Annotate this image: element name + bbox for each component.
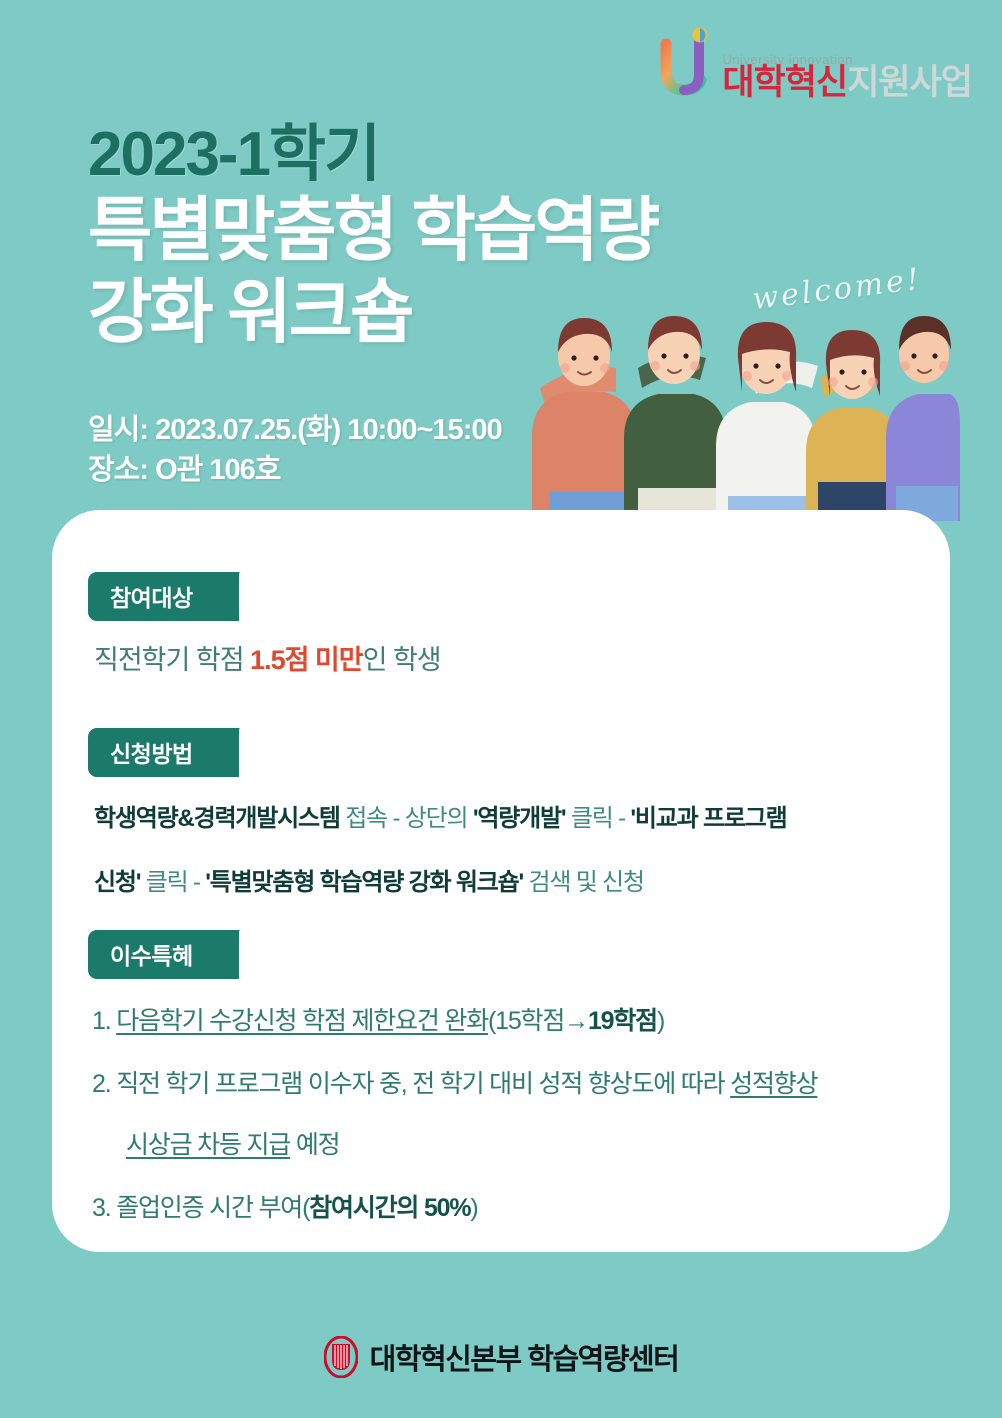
logo-title-gray: 지원사업: [847, 63, 972, 102]
schedule-info: 일시: 2023.07.25.(화) 10:00~15:00 장소: O관 10…: [88, 410, 502, 490]
section-apply: 신청방법 학생역량&경력개발시스템 접속 - 상단의 '역량개발' 클릭 - '…: [88, 728, 787, 895]
benefit-2-text: 직전 학기 프로그램 이수자 중, 전 학기 대비 성적 향상도에 따라: [116, 1070, 730, 1098]
benefit-1-tail-a: (15학점→: [488, 1007, 588, 1035]
apply-menu-2-part2: 신청': [94, 869, 140, 896]
benefit-3-text-c: ): [470, 1194, 477, 1222]
benefit-3-number: 3.: [92, 1194, 110, 1222]
target-text-pre: 직전학기 학점: [94, 645, 250, 675]
university-innovation-u-icon: [658, 26, 714, 100]
university-seal-icon: [324, 1336, 358, 1378]
section-badge-apply: 신청방법: [88, 728, 239, 777]
section-benefit: 이수특혜 1. 다음학기 수강신청 학점 제한요건 완화(15학점→19학점) …: [88, 930, 817, 1221]
apply-menu-1: '역량개발': [473, 805, 566, 832]
schedule-date: 일시: 2023.07.25.(화) 10:00~15:00: [88, 410, 502, 450]
benefit-3-text-a: 졸업인증 시간 부여(: [116, 1194, 309, 1222]
section-badge-benefit: 이수특혜: [88, 930, 239, 979]
info-card: 참여대상 직전학기 학점 1.5점 미만인 학생 신청방법 학생역량&경력개발시…: [52, 510, 950, 1252]
benefit-2-underlined-b: 시상금 차등 지급: [126, 1131, 290, 1159]
apply-line-1: 학생역량&경력개발시스템 접속 - 상단의 '역량개발' 클릭 - '비교과 프…: [88, 807, 787, 831]
footer: 대학혁신본부 학습역량센터: [0, 1336, 1002, 1378]
benefit-2-underlined-a: 성적향상: [730, 1070, 817, 1098]
footer-organization: 대학혁신본부 학습역량센터: [370, 1336, 679, 1378]
logo-title: 대학혁신지원사업: [722, 65, 972, 100]
students-group-illustration: [520, 296, 960, 521]
target-text-post: 인 학생: [363, 645, 441, 675]
logo-title-red: 대학혁신: [722, 63, 847, 102]
headline-line-1: 특별맞춤형 학습역량: [88, 191, 778, 269]
headline-semester: 2023-1학기: [88, 122, 778, 187]
benefit-item-1: 1. 다음학기 수강신청 학점 제한요건 완화(15학점→19학점): [88, 1009, 817, 1034]
section-badge-target: 참여대상: [88, 572, 239, 621]
benefit-1-underlined: 다음학기 수강신청 학점 제한요건 완화: [116, 1007, 488, 1035]
apply-l1-b: 접속 - 상단의: [340, 805, 473, 832]
section-target: 참여대상 직전학기 학점 1.5점 미만인 학생: [88, 572, 441, 674]
apply-menu-2-part1: '비교과 프로그램: [630, 805, 786, 832]
apply-l1-d: 클릭 -: [565, 805, 630, 832]
schedule-place: 장소: O관 106호: [88, 450, 502, 490]
benefit-1-number: 1.: [92, 1007, 110, 1035]
target-description: 직전학기 학점 1.5점 미만인 학생: [88, 647, 441, 674]
benefit-item-2: 2. 직전 학기 프로그램 이수자 중, 전 학기 대비 성적 향상도에 따라 …: [88, 1072, 817, 1097]
benefit-3-percent: 참여시간의 50%: [309, 1194, 470, 1222]
apply-line-2: 신청' 클릭 - '특별맞춤형 학습역량 강화 워크숍' 검색 및 신청: [88, 871, 787, 895]
apply-system-name: 학생역량&경력개발시스템: [94, 805, 340, 832]
apply-l2-d: 검색 및 신청: [523, 869, 644, 896]
benefit-item-3: 3. 졸업인증 시간 부여(참여시간의 50%): [88, 1196, 817, 1221]
benefit-1-credits: 19학점: [588, 1007, 657, 1035]
program-logo: University innovation 대학혁신지원사업: [658, 26, 972, 100]
benefit-2-number: 2.: [92, 1070, 110, 1098]
apply-l2-b: 클릭 -: [140, 869, 205, 896]
benefit-item-2-continued: 시상금 차등 지급 예정: [88, 1133, 817, 1158]
benefit-2-tail: 예정: [290, 1131, 339, 1159]
benefit-1-tail-c: ): [657, 1007, 664, 1035]
apply-program-name: '특별맞춤형 학습역량 강화 워크숍': [205, 869, 523, 896]
target-text-emphasis: 1.5점 미만: [250, 645, 363, 675]
